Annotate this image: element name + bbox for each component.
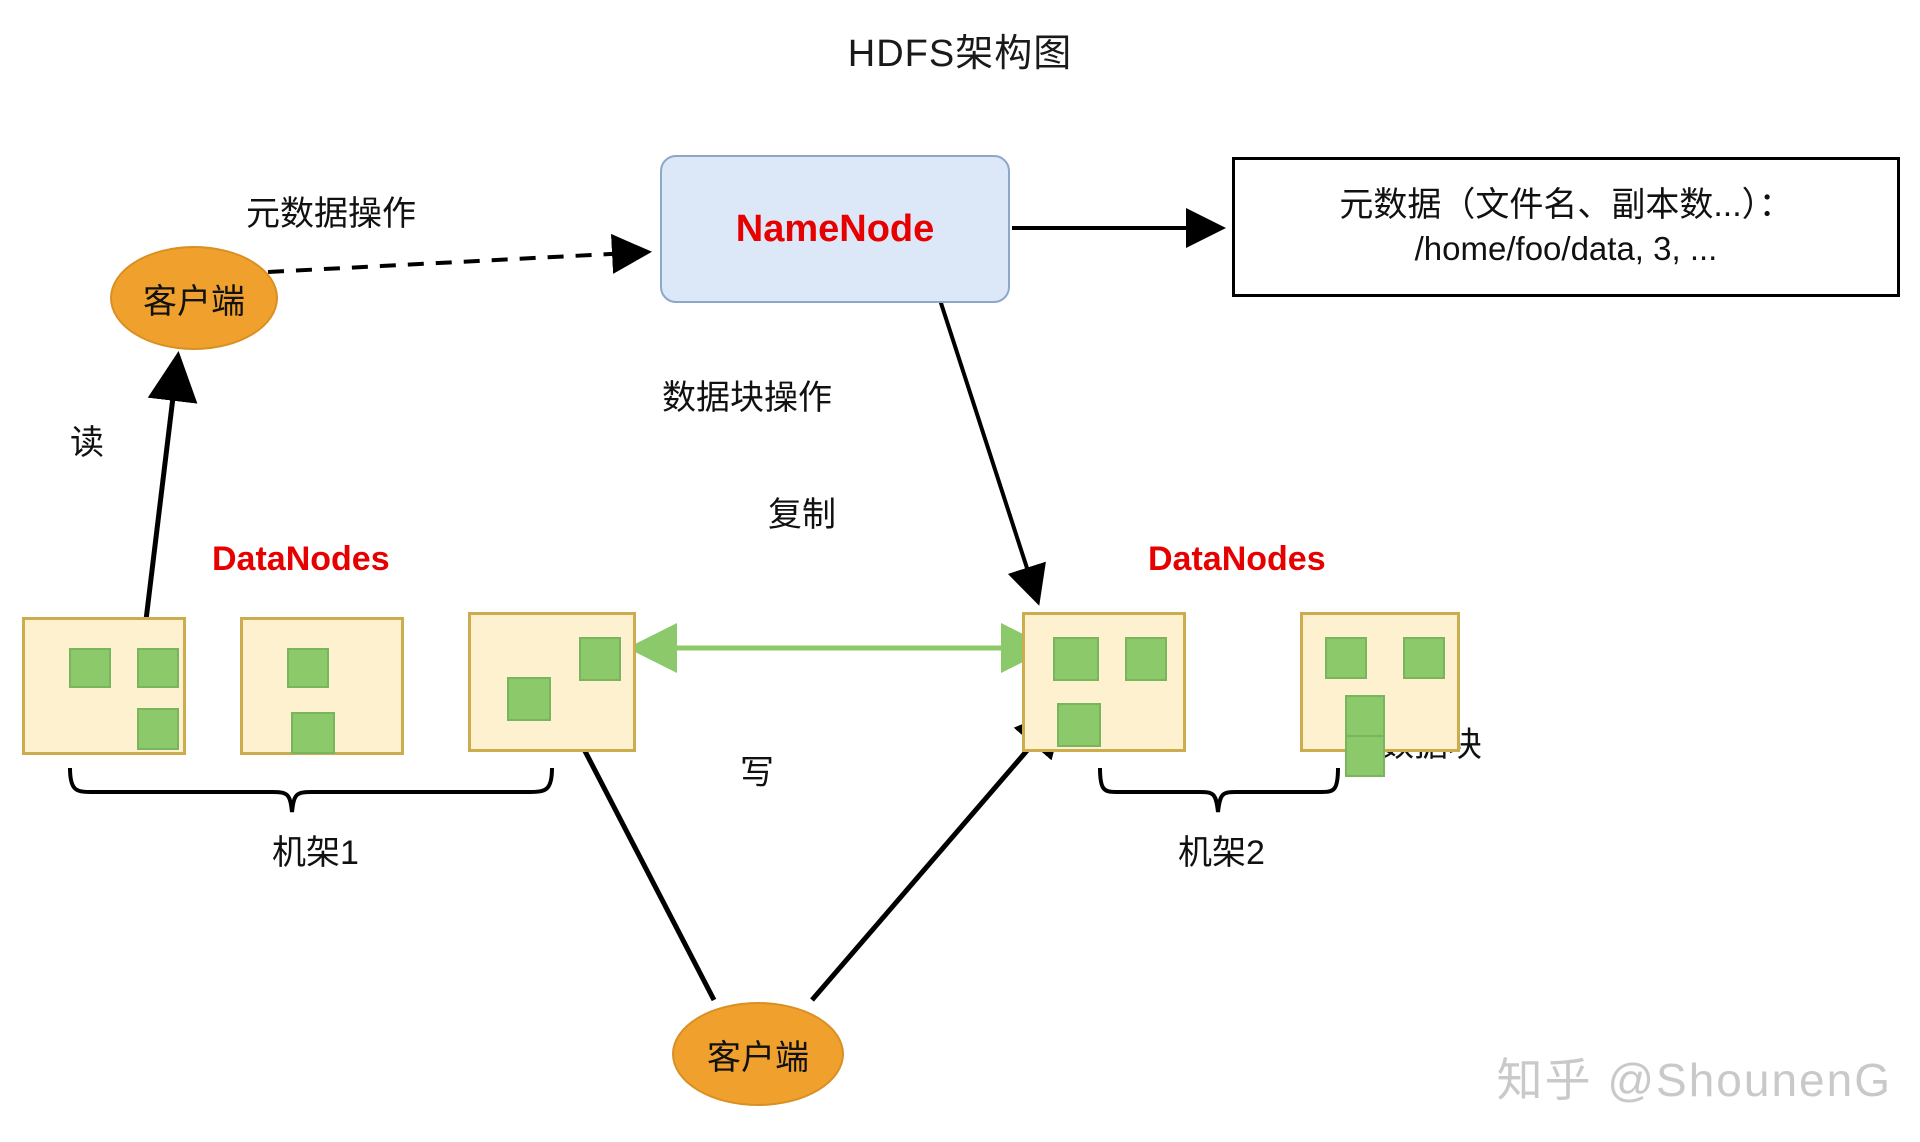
datanode-box[interactable] [240,617,404,755]
edge-metadata-op [268,252,648,272]
datanode-box[interactable] [22,617,186,755]
edge-block-op [940,300,1038,602]
data-block [287,648,329,688]
datanode-box[interactable] [1022,612,1186,752]
edge-label-metadata-op: 元数据操作 [246,186,416,235]
watermark: 知乎 @ShounenG [1497,1044,1892,1110]
data-block [69,648,111,688]
metadata-box: 元数据（文件名、副本数...）： /home/foo/data, 3, ... [1232,157,1900,297]
metadata-line-1: 元数据（文件名、副本数...）： [1339,183,1792,227]
client-read-label: 客户端 [143,274,245,323]
data-block [291,712,335,754]
edge-label-block-op: 数据块操作 [662,370,832,419]
page-title: HDFS架构图 [0,22,1920,77]
client-write-node[interactable]: 客户端 [672,1002,844,1106]
metadata-line-2: /home/foo/data, 3, ... [1415,228,1718,271]
edge-label-replicate: 复制 [768,487,836,536]
edge-label-read: 读 [70,415,104,464]
namenode-box[interactable]: NameNode [660,155,1010,303]
datanode-box[interactable] [1300,612,1460,752]
edge-read [146,356,178,620]
data-block [137,648,179,688]
rack-label-1: 机架1 [272,825,359,874]
data-block [1345,695,1385,737]
client-write-label: 客户端 [707,1030,809,1079]
rack-label-2: 机架2 [1178,825,1265,874]
edge-label-write: 写 [740,745,774,794]
data-block [1053,637,1099,681]
data-block [1403,637,1445,679]
data-block [1345,735,1385,777]
datanodes-right-label: DataNodes [1148,540,1326,579]
client-read-node[interactable]: 客户端 [110,246,278,350]
data-block [507,677,551,721]
datanode-box[interactable] [468,612,636,752]
data-block [1325,637,1367,679]
rack1-brace [70,768,552,812]
diagram-canvas: HDFS架构图 [0,0,1920,1142]
data-block [579,637,621,681]
datanodes-left-label: DataNodes [212,540,390,579]
rack2-brace [1100,768,1338,812]
data-block [1057,703,1101,747]
data-block [137,708,179,750]
data-block [1125,637,1167,681]
namenode-label: NameNode [736,208,935,251]
edge-write-right [812,710,1062,1000]
